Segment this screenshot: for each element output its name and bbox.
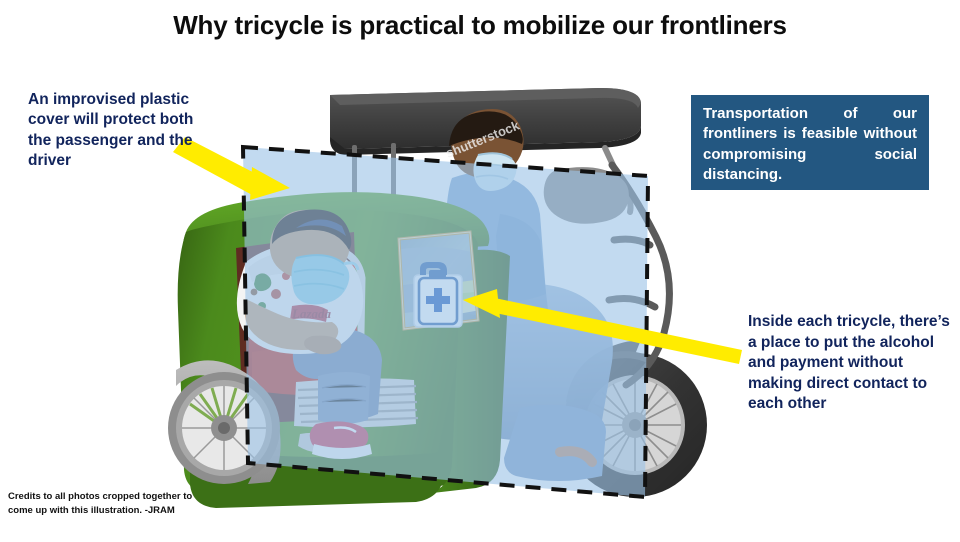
roof-post-rear	[605, 148, 631, 212]
sidecar-roof	[183, 192, 489, 264]
passenger-face-mask	[291, 255, 358, 304]
blue-callout-text: Transportation of our frontliners is fea…	[703, 104, 917, 185]
sidecar-window	[393, 232, 485, 329]
sidecar-skirt	[190, 448, 446, 508]
canopy-roof	[330, 88, 641, 212]
passenger-shirt	[237, 245, 363, 354]
footboard	[294, 378, 418, 427]
shirt-graphic: Lazada	[251, 272, 332, 322]
driver: shutterstock	[444, 109, 548, 316]
arrow-right	[463, 289, 742, 364]
sidecar-front-panel	[424, 250, 510, 494]
driver-hair	[449, 111, 523, 146]
sidecar-wheel	[168, 360, 281, 484]
tricycle-illustration: shutterstock	[0, 0, 960, 542]
passenger-head	[270, 210, 350, 281]
cabin-grab-bar	[330, 248, 362, 404]
passenger-arm	[245, 300, 338, 350]
rider-seat	[544, 167, 629, 224]
sidecar-cabin	[230, 225, 370, 430]
plastic-cover	[243, 147, 648, 497]
handlebar-upper	[300, 263, 482, 300]
blue-callout-box: Transportation of our frontliners is fea…	[691, 95, 929, 190]
motorcycle-lower	[504, 405, 606, 481]
sanitizer-neck	[429, 270, 446, 278]
motorcycle	[300, 165, 707, 497]
sanitizer-icon	[414, 262, 462, 327]
driver-face-mask	[473, 153, 516, 191]
sanitizer-cross-icon	[426, 288, 450, 312]
exhaust	[560, 451, 592, 462]
slide-canvas: Why tricycle is practical to mobilize ou…	[0, 0, 960, 542]
callout-right-alcohol-payment: Inside each tricycle, there’s a place to…	[748, 312, 958, 415]
callout-left-plastic-cover: An improvised plastic cover will protect…	[28, 90, 213, 172]
sidecar-body	[178, 210, 478, 494]
handlebar-grip	[392, 279, 432, 302]
passenger-hair	[272, 210, 351, 251]
driver-jacket	[446, 172, 546, 303]
roof-post-mid	[391, 143, 396, 203]
roof-post-front	[352, 145, 357, 207]
motorcycle-body	[454, 283, 613, 441]
sidecar-fender	[176, 360, 281, 484]
driver-head	[451, 109, 523, 178]
luggage-rack	[603, 165, 669, 385]
banknotes	[432, 280, 480, 318]
passenger: Lazada	[237, 210, 382, 460]
passenger-seat	[248, 262, 366, 393]
passenger-shoes	[310, 421, 372, 459]
credits-note: Credits to all photos cropped together t…	[8, 490, 198, 518]
page-title: Why tricycle is practical to mobilize ou…	[0, 10, 960, 41]
handlebar	[404, 277, 492, 306]
svg-text:Lazada: Lazada	[291, 306, 332, 321]
mudflap-bracket	[298, 433, 332, 452]
plastic-cover-dashed-border	[243, 147, 648, 497]
passenger-hand	[304, 336, 341, 355]
passenger-cap	[296, 219, 346, 236]
sidecar	[168, 192, 510, 508]
shutterstock-watermark: shutterstock	[444, 117, 523, 160]
rear-wheel	[563, 341, 707, 497]
passenger-jeans	[293, 327, 382, 420]
sanitizer-bottle	[419, 278, 457, 324]
sanitizer-pump	[420, 262, 447, 275]
